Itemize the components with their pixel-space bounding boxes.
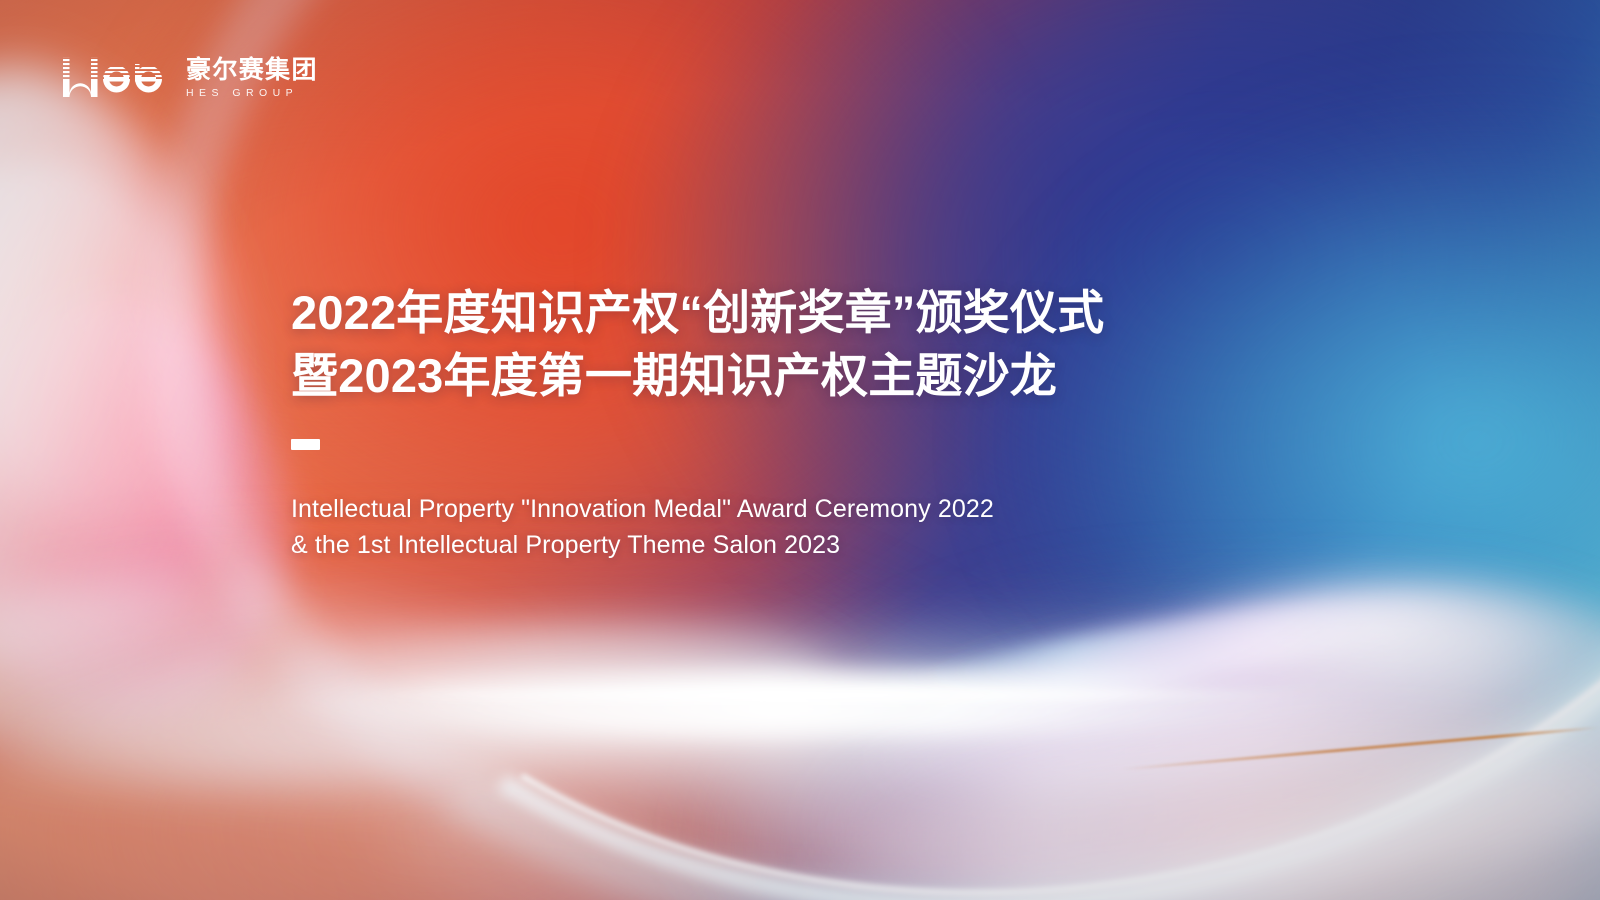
hes-monogram-icon: [62, 54, 172, 102]
event-subtitle-line-1: Intellectual Property "Innovation Medal"…: [291, 491, 1251, 528]
headline-block: 2022年度知识产权“创新奖章”颁奖仪式 暨2023年度第一期知识产权主题沙龙 …: [291, 282, 1251, 564]
event-banner: 豪尔赛集团 HES GROUP 2022年度知识产权“创新奖章”颁奖仪式 暨20…: [0, 0, 1600, 900]
brand-logo[interactable]: 豪尔赛集团 HES GROUP: [62, 54, 318, 102]
title-divider-rule: [291, 439, 320, 450]
brand-name-en: HES GROUP: [186, 88, 318, 99]
event-subtitle-line-2: & the 1st Intellectual Property Theme Sa…: [291, 527, 1251, 564]
event-title-line-2: 暨2023年度第一期知识产权主题沙龙: [291, 345, 1251, 408]
event-title-line-1: 2022年度知识产权“创新奖章”颁奖仪式: [291, 282, 1251, 345]
brand-name-cn: 豪尔赛集团: [186, 58, 318, 83]
